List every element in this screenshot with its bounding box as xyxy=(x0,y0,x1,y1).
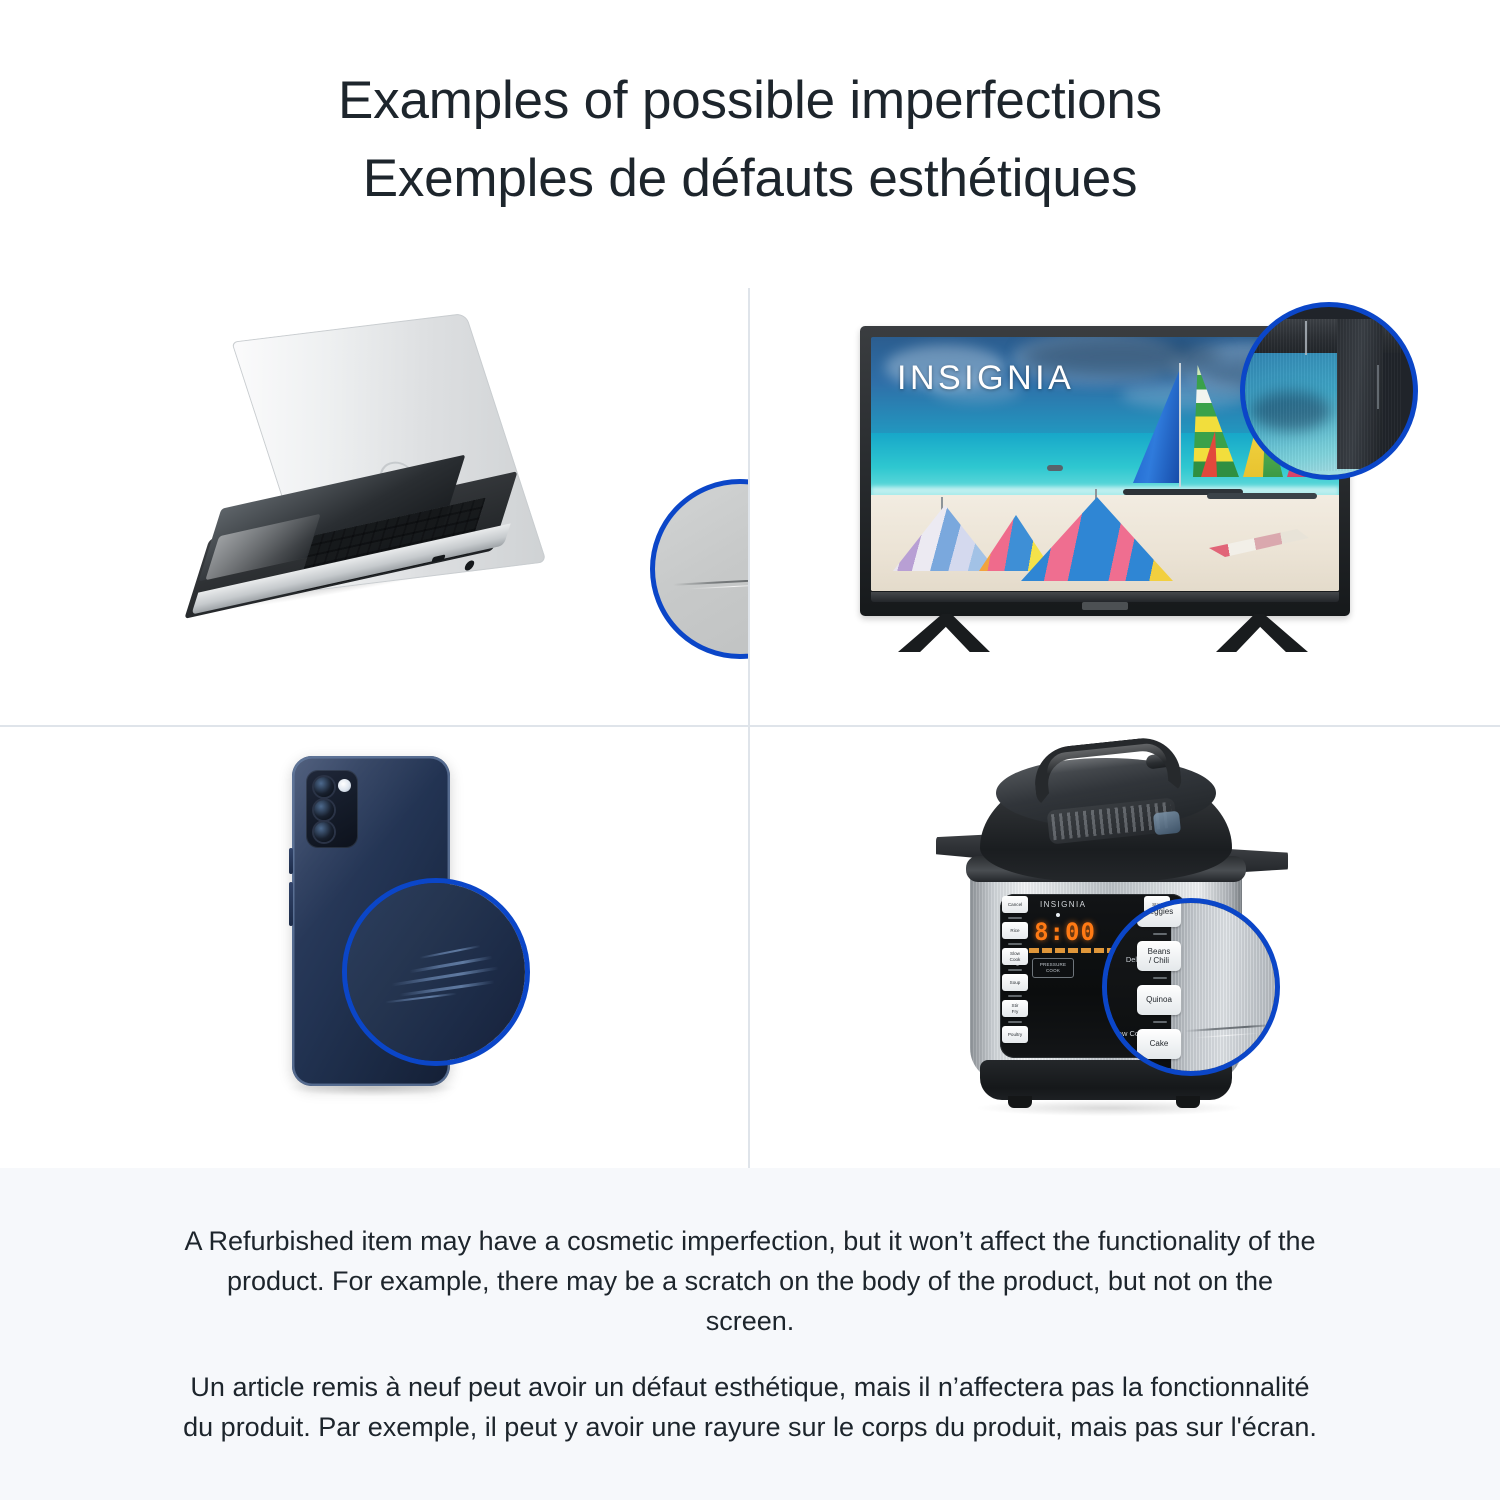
smartphone-camera-module xyxy=(306,770,358,848)
tv-screen-brand-logo: INSIGNIA xyxy=(897,359,1074,398)
pressure-cooker-figure: INSIGNIA 8:00 - PRESSURE COOK + Cancel xyxy=(922,738,1302,1148)
cooker-key-separator xyxy=(1153,933,1167,935)
smartphone-figure xyxy=(258,750,498,1150)
camera-lens-icon xyxy=(314,822,334,842)
cloud-shape xyxy=(1121,381,1251,409)
tv-stand-leg-right xyxy=(1216,614,1308,652)
sailboat-hull xyxy=(1207,493,1317,499)
cooker-key-separator xyxy=(1153,1021,1167,1023)
laptop-illustration xyxy=(0,288,748,726)
cooker-mode-indicator-bar xyxy=(1016,948,1112,953)
footer-description-panel: A Refurbished item may have a cosmetic i… xyxy=(0,1168,1500,1500)
cooker-brand-logo: INSIGNIA xyxy=(1040,900,1086,909)
cooker-key-separator xyxy=(1153,977,1167,979)
cooker-key-separator xyxy=(1008,943,1022,945)
magnifier-circle-phone-scratches xyxy=(342,878,530,1066)
product-cell-laptop xyxy=(0,288,748,726)
cooker-foot xyxy=(1176,1096,1200,1108)
cooker-key[interactable]: Poultry xyxy=(1002,1026,1028,1043)
cooker-key[interactable]: Soup xyxy=(1002,974,1028,991)
page-header: Examples of possible imperfections Exemp… xyxy=(0,0,1500,288)
cooker-lid-dial-icon xyxy=(1153,811,1181,836)
cooker-key[interactable]: Slow Cook xyxy=(1002,948,1028,965)
magnifier-circle-laptop-scratch xyxy=(650,479,748,659)
laptop-scratch-mark xyxy=(673,576,748,586)
television-illustration: INSIGNIA xyxy=(750,288,1498,726)
pressure-cooker-illustration: INSIGNIA 8:00 - PRESSURE COOK + Cancel xyxy=(750,728,1498,1166)
smartphone-volume-button xyxy=(289,848,293,874)
cooker-key-separator xyxy=(1008,969,1022,971)
cooker-lcd-display: 8:00 xyxy=(1030,920,1100,944)
cooker-foot xyxy=(1008,1096,1032,1108)
tv-bottom-bezel xyxy=(871,592,1339,602)
magnifier-circle-cooker-scratch: Delay Slow Cook Veggies Beans / Chili Qu… xyxy=(1102,898,1280,1076)
footer-paragraph-french: Un article remis à neuf peut avoir un dé… xyxy=(180,1367,1320,1447)
sailboat-mast xyxy=(1179,363,1181,487)
cooker-left-key-column[interactable]: Cancel Rice Slow Cook Soup Stir Fry Poul… xyxy=(1002,896,1028,1047)
smartphone-illustration xyxy=(0,728,748,1166)
magnifier-circle-tv-scratch xyxy=(1240,302,1418,480)
camera-lens-icon xyxy=(314,800,334,820)
distant-boat xyxy=(1047,465,1063,471)
product-cell-smartphone xyxy=(0,728,748,1166)
cooker-key-separator xyxy=(1008,917,1022,919)
page-title-english: Examples of possible imperfections xyxy=(338,62,1162,140)
product-cell-television: INSIGNIA xyxy=(750,288,1498,726)
camera-flash-icon xyxy=(338,779,351,792)
tv-scratch-mark-secondary xyxy=(1377,365,1379,409)
tv-scratch-mark xyxy=(1305,321,1307,355)
cooker-key[interactable]: Cancel xyxy=(1002,896,1028,913)
cooker-magnified-key[interactable]: Veggies xyxy=(1137,898,1181,927)
page-title-french: Exemples de défauts esthétiques xyxy=(363,140,1138,218)
cooker-key-separator xyxy=(1008,1021,1022,1023)
laptop-figure xyxy=(185,313,605,643)
phone-magnified-surface xyxy=(347,883,525,1061)
cooker-magnified-key[interactable]: Quinoa xyxy=(1137,985,1181,1015)
cooker-indicator-led-icon xyxy=(1056,913,1060,917)
tv-status-led-icon xyxy=(1082,602,1128,610)
cooker-mode-box[interactable]: PRESSURE COOK xyxy=(1032,958,1074,978)
tv-stand-leg-left xyxy=(898,614,990,652)
cooker-magnified-steel-surface xyxy=(1169,903,1280,1076)
camera-lens-icon xyxy=(314,777,334,797)
cooker-key[interactable]: Stir Fry xyxy=(1002,1000,1028,1017)
television-figure: INSIGNIA xyxy=(860,326,1370,686)
cooker-magnified-key[interactable]: Beans / Chili xyxy=(1137,941,1181,971)
cooker-mode-box-label: PRESSURE COOK xyxy=(1033,959,1073,974)
footer-paragraph-english: A Refurbished item may have a cosmetic i… xyxy=(180,1221,1320,1341)
product-examples-grid: INSIGNIA xyxy=(0,288,1500,1168)
cooker-magnified-key[interactable]: Cake xyxy=(1137,1029,1181,1059)
smartphone-power-button xyxy=(289,882,293,926)
cooker-key[interactable]: Rice xyxy=(1002,922,1028,939)
cooker-key-separator xyxy=(1008,995,1022,997)
product-cell-pressure-cooker: INSIGNIA 8:00 - PRESSURE COOK + Cancel xyxy=(750,728,1498,1166)
imperfections-infographic: Examples of possible imperfections Exemp… xyxy=(0,0,1500,1500)
